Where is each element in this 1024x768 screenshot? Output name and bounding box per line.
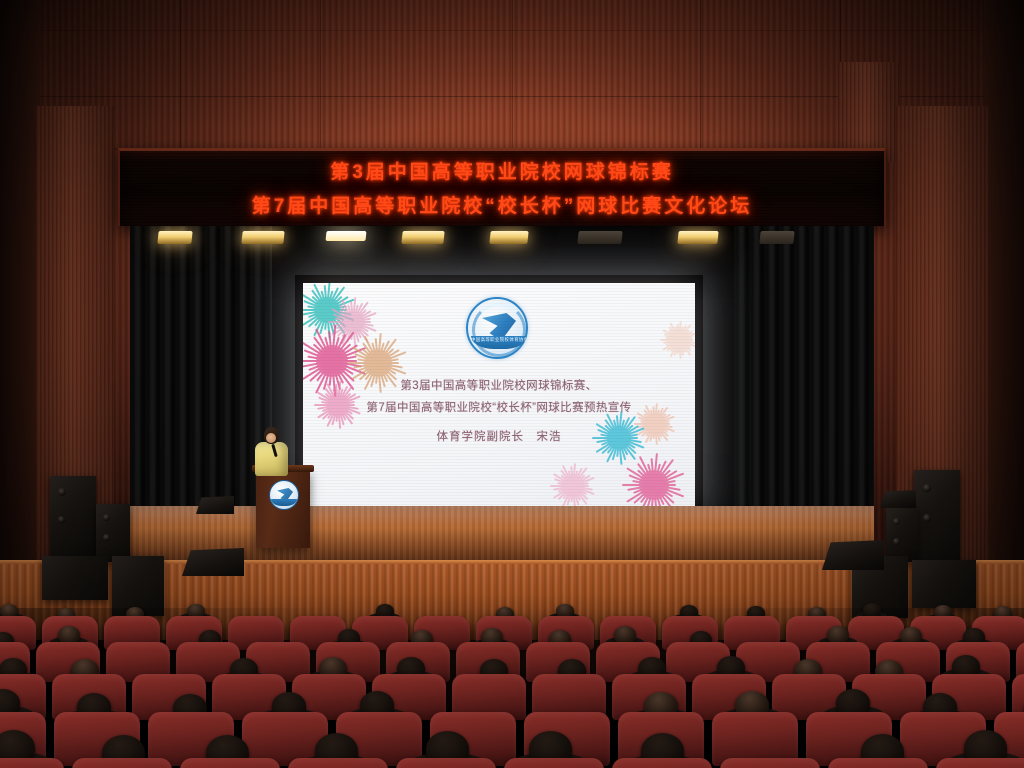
pa-speaker-stack-right	[914, 470, 960, 560]
presenter-at-podium	[253, 427, 289, 475]
overhead-stage-light	[489, 231, 528, 244]
flower-burst-icon	[549, 461, 597, 508]
led-banner-line-1: 第3届中国高等职业院校网球锦标赛	[120, 151, 884, 190]
overhead-stage-light	[157, 231, 192, 244]
slide-logo-band-text: 中国高等职业院校体育协会	[471, 337, 527, 343]
pa-speaker-stack-right	[886, 506, 918, 562]
flower-burst-icon	[621, 451, 687, 508]
wall-seam	[700, 0, 701, 150]
presenter-face	[266, 433, 276, 443]
auditorium-seat	[0, 758, 64, 768]
pa-speaker-stack-left	[96, 504, 130, 562]
auditorium-seat	[720, 758, 820, 768]
slide-line-3: 体育学院副院长 宋浩	[303, 426, 695, 448]
overhead-stage-light	[677, 231, 718, 244]
auditorium-seat	[612, 758, 712, 768]
stage-monitor-wedge	[182, 548, 244, 576]
pa-speaker-stack-left	[50, 476, 96, 558]
wall-seam	[180, 0, 181, 150]
stage-light-bar	[130, 226, 874, 256]
auditorium-seat	[288, 758, 388, 768]
pa-speaker-stack-left	[42, 556, 108, 600]
podium-logo-icon	[269, 480, 299, 510]
slide-line-2: 第7届中国高等职业院校“校长杯”网球比赛预热宣传	[303, 397, 695, 419]
projection-screen: 中国高等职业院校体育协会 第3届中国高等职业院校网球锦标赛、 第7届中国高等职业…	[303, 283, 695, 508]
slide-logo-icon: 中国高等职业院校体育协会	[466, 297, 528, 359]
wall-return-right	[984, 0, 1024, 640]
speaker-podium	[256, 470, 310, 548]
wall-seam	[320, 0, 321, 150]
wall-pilaster-right-upper	[838, 62, 900, 162]
seated-audience	[0, 608, 1024, 768]
slide-text-block: 第3届中国高等职业院校网球锦标赛、 第7届中国高等职业院校“校长杯”网球比赛预热…	[303, 375, 695, 448]
stage-monitor-wedge	[822, 540, 884, 570]
stage-monitor-wedge	[196, 496, 234, 514]
wall-seam	[512, 0, 513, 150]
stage-monitor-wedge	[880, 490, 916, 508]
auditorium-seat	[72, 758, 172, 768]
auditorium-seat	[396, 758, 496, 768]
overhead-stage-light	[401, 231, 444, 244]
auditorium-seat	[936, 758, 1024, 768]
overhead-stage-light	[325, 231, 366, 241]
auditorium-seat	[504, 758, 604, 768]
auditorium-seat	[828, 758, 928, 768]
auditorium-scene: 第3届中国高等职业院校网球锦标赛 第7届中国高等职业院校“校长杯”网球比赛文化论…	[0, 0, 1024, 768]
wall-return-left	[0, 0, 40, 640]
slide-line-1: 第3届中国高等职业院校网球锦标赛、	[303, 375, 695, 397]
audience-member-head	[863, 603, 881, 617]
flower-burst-icon	[659, 319, 695, 359]
led-banner-line-2: 第7届中国高等职业院校“校长杯”网球比赛文化论坛	[120, 190, 884, 224]
overhead-stage-light	[759, 231, 794, 244]
stage-curtain-left	[130, 226, 272, 526]
overhead-stage-light	[241, 231, 284, 244]
stage-curtain-right	[734, 226, 874, 526]
led-banner: 第3届中国高等职业院校网球锦标赛 第7届中国高等职业院校“校长杯”网球比赛文化论…	[118, 148, 886, 226]
auditorium-seat	[180, 758, 280, 768]
pa-speaker-stack-right	[912, 560, 976, 608]
overhead-stage-light	[577, 231, 622, 244]
